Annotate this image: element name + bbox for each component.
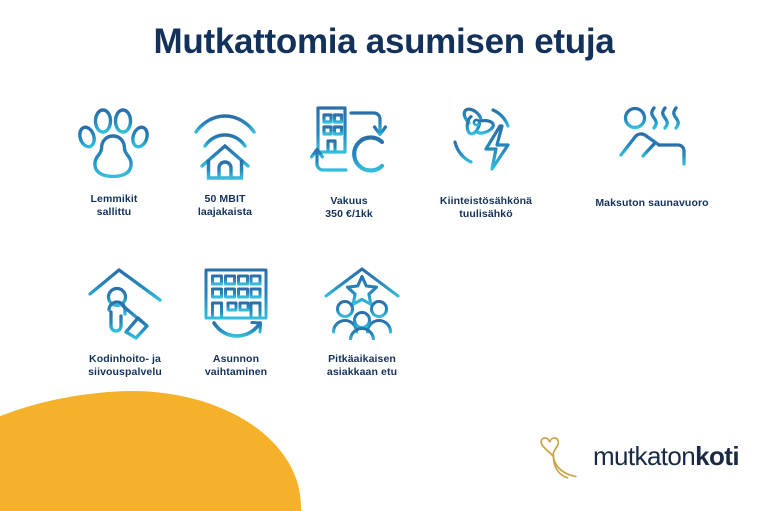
apartment-swap-arrow-icon: [172, 266, 300, 345]
benefit-label: Maksuton saunavuoro: [562, 197, 742, 210]
benefit-item-loyalty: Pitkäaikaisen asiakkaan etu: [292, 266, 432, 380]
heart-swoosh-icon: [535, 432, 591, 480]
benefit-label: 50 MBIT laajakaista: [160, 193, 290, 220]
slide-canvas: Mutkattomia asumisen etuja Lemmikit sall…: [0, 0, 768, 511]
house-star-people-icon: [292, 266, 432, 345]
decorative-orange-blob: [0, 382, 305, 511]
logo-wordmark: mutkatonkoti: [593, 443, 739, 469]
benefit-label: Vakuus 350 €/1kk: [286, 195, 412, 222]
logo-text-bold: koti: [695, 441, 739, 471]
benefit-item-apartment-swap: Asunnon vaihtaminen: [172, 266, 300, 380]
sauna-person-steam-icon: [562, 104, 742, 177]
benefit-item-sauna: Maksuton saunavuoro: [562, 104, 742, 210]
benefit-label: Pitkäaikaisen asiakkaan etu: [292, 353, 432, 380]
benefit-item-wind-power: Kiinteistösähkönä tuulisähkö: [416, 104, 556, 222]
wind-turbine-bolt-icon: [416, 104, 556, 181]
benefit-item-broadband: 50 MBIT laajakaista: [160, 104, 290, 220]
benefit-label: Asunnon vaihtaminen: [172, 353, 300, 380]
house-wifi-icon: [160, 104, 290, 187]
brand-logo: mutkatonkoti: [535, 432, 739, 480]
page-title: Mutkattomia asumisen etuja: [0, 22, 768, 62]
benefit-label: Kiinteistösähkönä tuulisähkö: [416, 195, 556, 222]
logo-text-light: mutkaton: [593, 441, 695, 471]
benefit-item-deposit: Vakuus 350 €/1kk: [286, 104, 412, 222]
building-euro-swap-icon: [286, 104, 412, 185]
